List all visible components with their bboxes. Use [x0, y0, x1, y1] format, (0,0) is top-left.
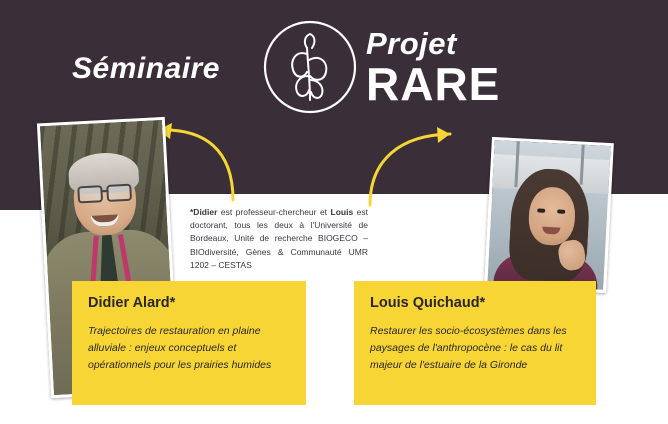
project-word-projet: Projet	[366, 28, 500, 59]
speaker-card-louis: Louis Quichaud* Restaurer les socio-écos…	[354, 281, 596, 405]
project-logotype: Projet RARE	[366, 28, 500, 107]
affiliation-note: *Didier est professeur-chercheur et Loui…	[190, 206, 368, 272]
note-bold-didier: *Didier	[190, 207, 217, 217]
speaker-talk-title-louis: Restaurer les socio-écosystèmes dans les…	[370, 323, 580, 373]
photo-louis-quichaud	[484, 137, 614, 293]
speaker-name-didier: Didier Alard*	[88, 295, 290, 311]
speaker-name-louis: Louis Quichaud*	[370, 295, 580, 311]
speaker-card-didier: Didier Alard* Trajectoires de restaurati…	[72, 281, 306, 405]
poster-root: Séminaire Projet RARE	[0, 0, 668, 424]
note-bold-louis: Louis	[331, 207, 354, 217]
page-title: Séminaire	[72, 52, 220, 86]
note-text-1: est professeur-chercheur et	[217, 207, 330, 217]
project-word-rare: RARE	[366, 61, 500, 107]
speaker-talk-title-didier: Trajectoires de restauration en plaine a…	[88, 323, 290, 373]
seaweed-circle-logo-icon	[263, 20, 357, 114]
